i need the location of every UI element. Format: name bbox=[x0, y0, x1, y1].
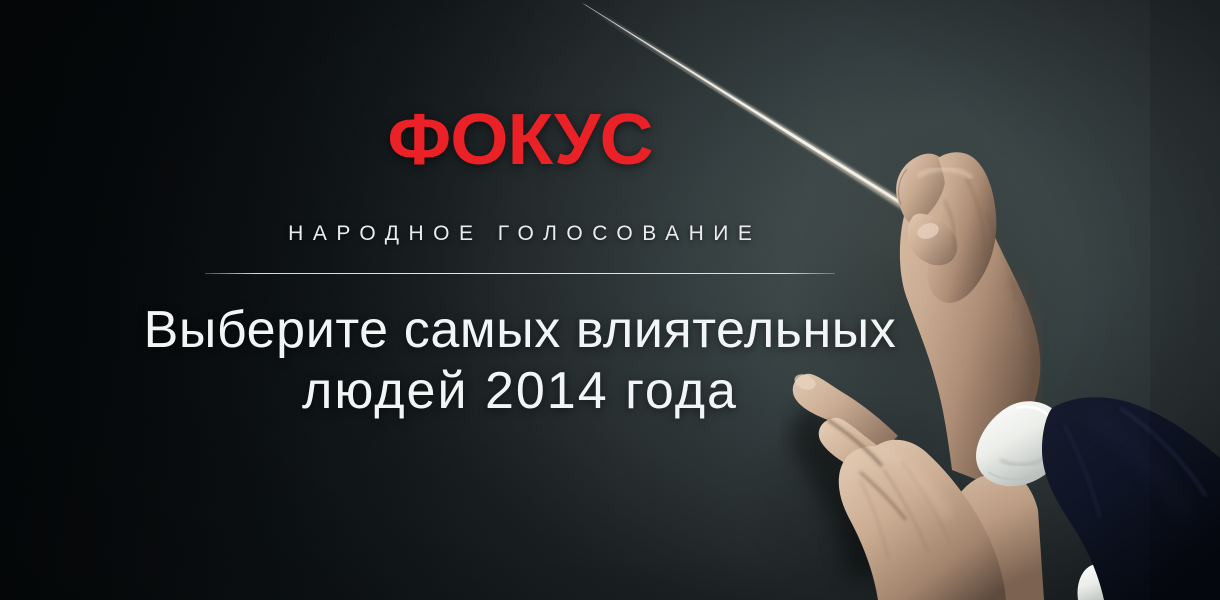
headline-line-2: людей 2014 года bbox=[0, 361, 1040, 422]
banner-text-block: ФОКУС НАРОДНОЕ ГОЛОСОВАНИЕ Выберите самы… bbox=[0, 0, 1040, 600]
focus-vote-banner: ФОКУС НАРОДНОЕ ГОЛОСОВАНИЕ Выберите самы… bbox=[0, 0, 1220, 600]
divider-rule bbox=[205, 273, 835, 274]
eyebrow-label: НАРОДНОЕ ГОЛОСОВАНИЕ bbox=[0, 222, 1040, 246]
focus-logo[interactable]: ФОКУС bbox=[0, 104, 1061, 176]
headline-line-1: Выберите самых влиятельных bbox=[0, 300, 1040, 361]
page-title: Выберите самых влиятельных людей 2014 го… bbox=[0, 300, 1040, 422]
